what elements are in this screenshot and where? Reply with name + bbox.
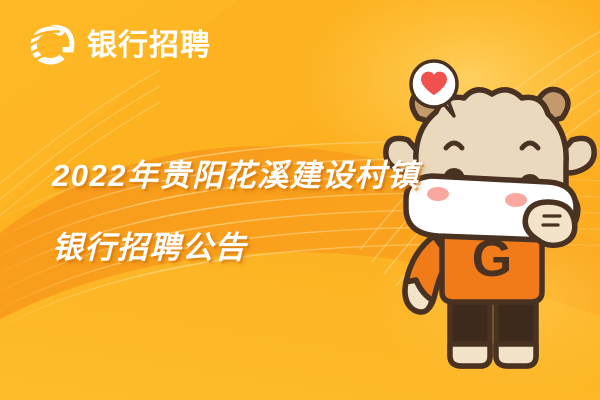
globe-swoosh-logo-icon <box>26 20 78 72</box>
mascot-shirt-letter: G <box>472 230 512 288</box>
headline: 2022年贵阳花溪建设村镇 银行招聘公告 <box>52 140 422 284</box>
headline-line-2: 银行招聘公告 <box>52 212 422 284</box>
heart-speech-bubble <box>404 54 466 122</box>
brand-logo-text: 银行招聘 <box>87 31 211 61</box>
brand-logo[interactable]: 银行招聘 <box>26 20 211 72</box>
recruitment-banner: 银行招聘 2022年贵阳花溪建设村镇 银行招聘公告 <box>0 0 600 400</box>
headline-line-1: 2022年贵阳花溪建设村镇 <box>52 140 422 212</box>
